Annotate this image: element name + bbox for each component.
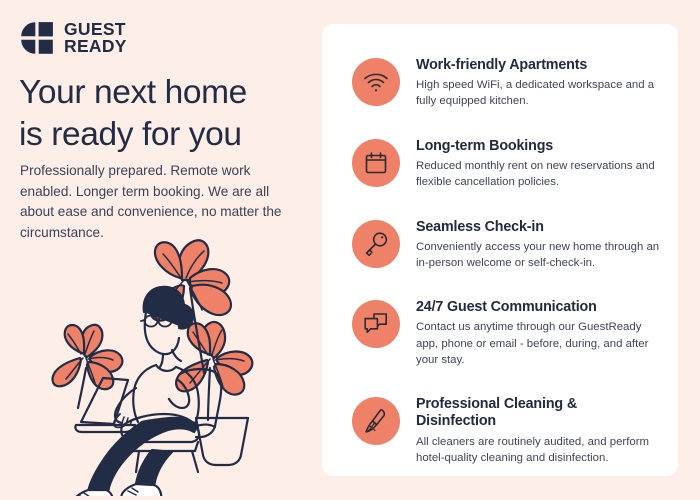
feature-item[interactable]: Professional Cleaning & Disinfection All… [352,395,660,466]
feature-description: Contact us anytime through our GuestRead… [416,319,660,368]
feature-text: Long-term Bookings Reduced monthly rent … [416,137,660,191]
feature-text: Professional Cleaning & Disinfection All… [416,395,660,466]
feature-text: Work-friendly Apartments High speed WiFi… [416,56,660,110]
feature-description: All cleaners are routinely audited, and … [416,434,660,467]
feature-description: Conveniently access your new home throug… [416,239,660,272]
feature-title: Work-friendly Apartments [416,57,660,74]
feature-title: Seamless Check-in [416,219,660,236]
hero-illustration [32,228,304,496]
page-title: Your next home is ready for you [19,72,309,155]
feature-description: High speed WiFi, a dedicated workspace a… [416,77,660,110]
key-icon [352,220,400,268]
calendar-icon [352,139,400,187]
feature-item[interactable]: Seamless Check-in Conveniently access yo… [352,218,660,272]
brand-wordmark: GUEST READY [64,21,127,55]
features-card: Work-friendly Apartments High speed WiFi… [322,24,678,476]
promo-page: GUEST READY Your next home is ready for … [0,0,700,500]
headline-line-2: is ready for you [19,114,309,156]
feature-item[interactable]: Long-term Bookings Reduced monthly rent … [352,137,660,191]
feature-description: Reduced monthly rent on new reservations… [416,158,660,191]
hero-column: GUEST READY Your next home is ready for … [0,0,320,500]
feature-title: Long-term Bookings [416,138,660,155]
plant-left [53,325,123,408]
chat-bubbles-icon [352,300,400,348]
feature-text: 24/7 Guest Communication Contact us anyt… [416,298,660,368]
feature-title: Professional Cleaning & Disinfection [416,396,660,430]
guestready-quadrant-logo-icon [19,20,55,56]
feature-title: 24/7 Guest Communication [416,299,660,316]
feature-list: Work-friendly Apartments High speed WiFi… [352,56,660,466]
headline-line-1: Your next home [19,72,309,114]
brand-logo[interactable]: GUEST READY [19,20,127,56]
wifi-icon [352,58,400,106]
feature-item[interactable]: Work-friendly Apartments High speed WiFi… [352,56,660,110]
broom-icon [352,397,400,445]
feature-item[interactable]: 24/7 Guest Communication Contact us anyt… [352,298,660,368]
feature-text: Seamless Check-in Conveniently access yo… [416,218,660,272]
brand-line-2: READY [64,38,127,55]
